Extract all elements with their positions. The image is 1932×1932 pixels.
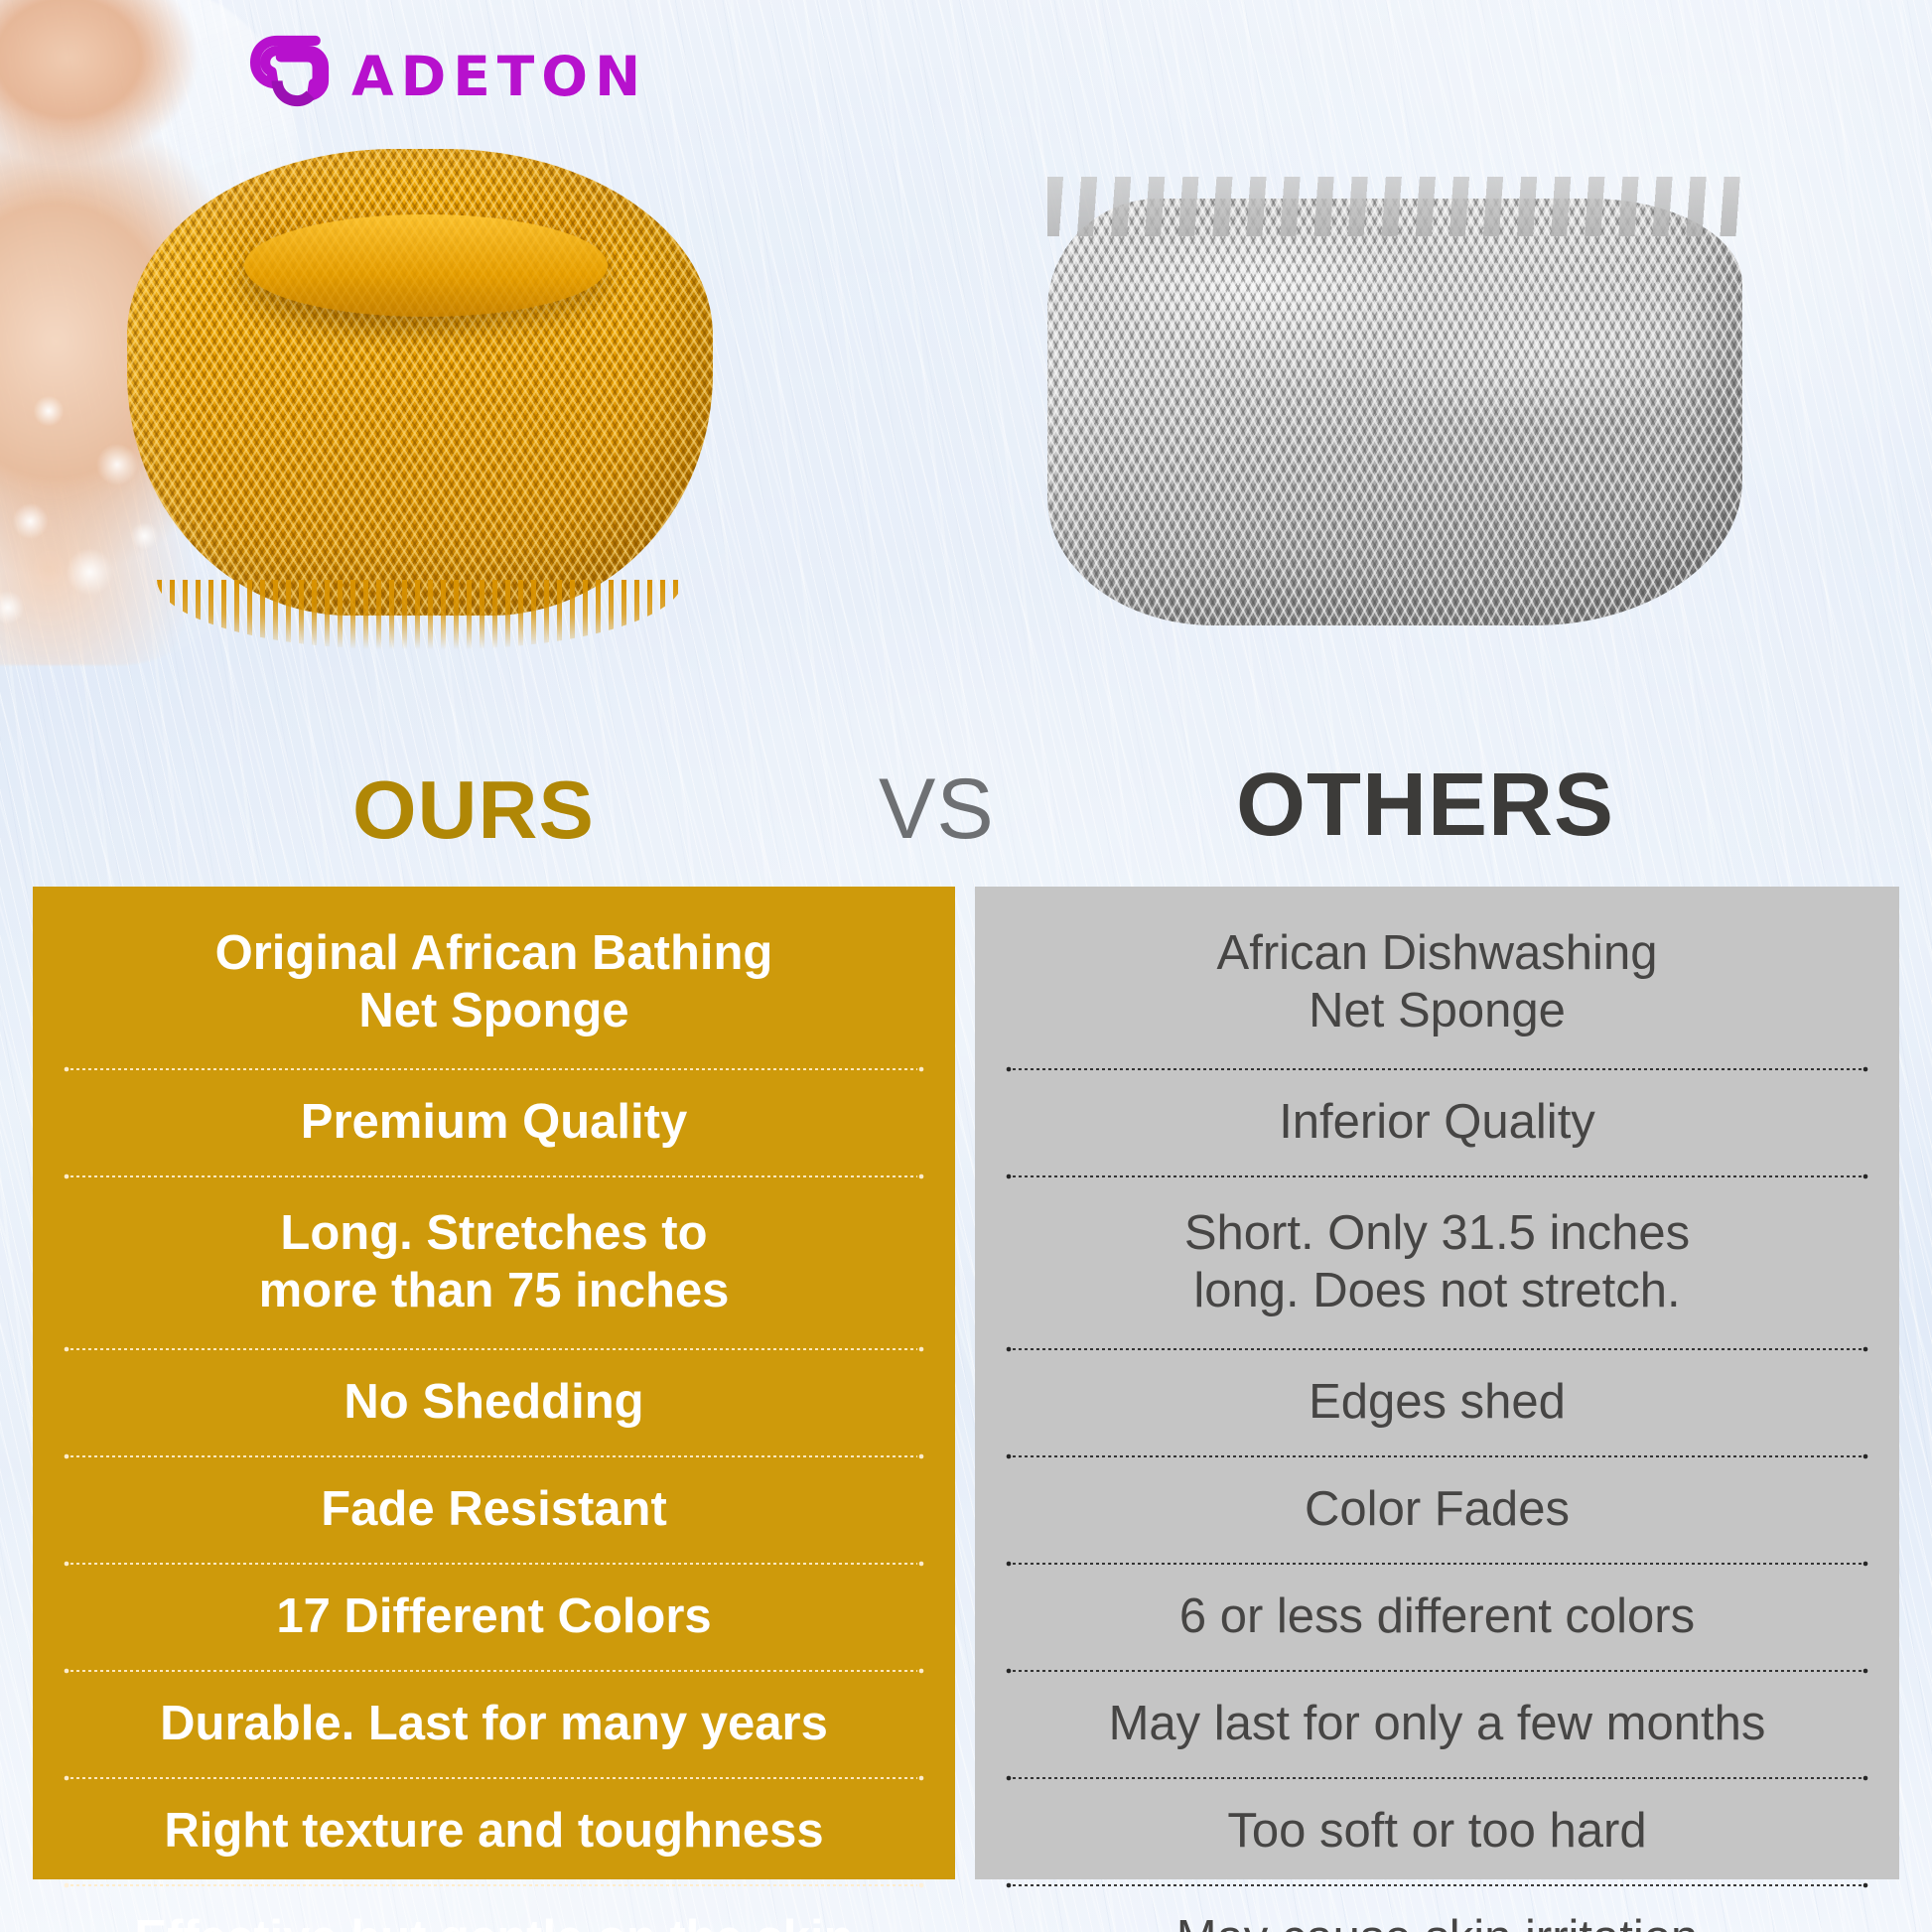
comparison-row-text: No Shedding [344,1374,643,1432]
infographic-canvas: ADETON OURS VS OTHERS Original African B… [0,0,1932,1932]
comparison-row-others: Inferior Quality [1001,1081,1873,1165]
brand-logo: ADETON [244,28,647,119]
comparison-row-others: May cause skin irritation [1001,1897,1873,1932]
comparison-row-text: Original African BathingNet Sponge [215,925,773,1040]
comparison-row-ours: Right texture and toughness [59,1790,929,1873]
comparison-row-others: African DishwashingNet Sponge [1001,908,1873,1057]
comparison-table: Original African BathingNet SpongePremiu… [0,887,1932,1879]
row-separator [63,1879,925,1891]
row-separator [1005,1343,1869,1355]
comparison-column-ours: Original African BathingNet SpongePremiu… [33,887,955,1879]
comparison-row-text: Fade Resistant [321,1481,667,1539]
row-separator [63,1772,925,1784]
comparison-row-ours: Original African BathingNet Sponge [59,908,929,1057]
comparison-row-ours: Fade Resistant [59,1468,929,1552]
comparison-row-text: Too soft or too hard [1227,1803,1646,1861]
comparison-row-text: Effective but gentle on the skin [134,1910,853,1932]
comparison-row-text: Edges shed [1309,1374,1566,1432]
comparison-row-others: Color Fades [1001,1468,1873,1552]
comparison-row-others: Too soft or too hard [1001,1790,1873,1873]
row-separator [1005,1171,1869,1182]
comparison-row-ours: No Shedding [59,1361,929,1445]
comparison-row-others: Short. Only 31.5 incheslong. Does not st… [1001,1188,1873,1337]
row-separator [1005,1558,1869,1570]
row-separator [63,1343,925,1355]
row-separator [1005,1450,1869,1462]
row-separator [1005,1772,1869,1784]
comparison-row-text: African DishwashingNet Sponge [1217,925,1658,1040]
brand-name: ADETON [351,44,647,104]
comparison-row-ours: Effective but gentle on the skin [59,1897,929,1932]
row-separator [1005,1063,1869,1075]
comparison-row-others: May last for only a few months [1001,1683,1873,1766]
comparison-row-ours: Long. Stretches tomore than 75 inches [59,1188,929,1337]
row-separator [63,1063,925,1075]
comparison-headings: OURS VS OTHERS [0,747,1932,864]
heading-others: OTHERS [1236,760,1614,850]
comparison-row-ours: 17 Different Colors [59,1576,929,1659]
row-separator [63,1450,925,1462]
ours-product-image [127,149,713,616]
comparison-row-text: 17 Different Colors [276,1588,711,1646]
adeton-leaf-s-logo-icon [244,28,336,119]
comparison-row-others: Edges shed [1001,1361,1873,1445]
comparison-row-text: 6 or less different colors [1179,1588,1695,1646]
heading-vs: VS [879,766,995,852]
comparison-column-others: African DishwashingNet SpongeInferior Qu… [975,887,1899,1879]
comparison-row-text: May cause skin irritation [1176,1910,1699,1932]
comparison-row-ours: Durable. Last for many years [59,1683,929,1766]
heading-ours: OURS [352,768,595,851]
comparison-row-others: 6 or less different colors [1001,1576,1873,1659]
comparison-row-text: Short. Only 31.5 incheslong. Does not st… [1184,1205,1690,1320]
comparison-row-text: Color Fades [1305,1481,1570,1539]
comparison-row-text: Right texture and toughness [164,1803,823,1861]
row-separator [1005,1879,1869,1891]
comparison-row-text: May last for only a few months [1109,1696,1766,1753]
comparison-row-text: Premium Quality [301,1094,687,1152]
comparison-row-ours: Premium Quality [59,1081,929,1165]
row-separator [63,1665,925,1677]
row-separator [63,1558,925,1570]
row-separator [1005,1665,1869,1677]
comparison-row-text: Long. Stretches tomore than 75 inches [259,1205,730,1320]
row-separator [63,1171,925,1182]
comparison-row-text: Inferior Quality [1279,1094,1595,1152]
comparison-row-text: Durable. Last for many years [160,1696,828,1753]
others-product-image [1047,199,1742,625]
